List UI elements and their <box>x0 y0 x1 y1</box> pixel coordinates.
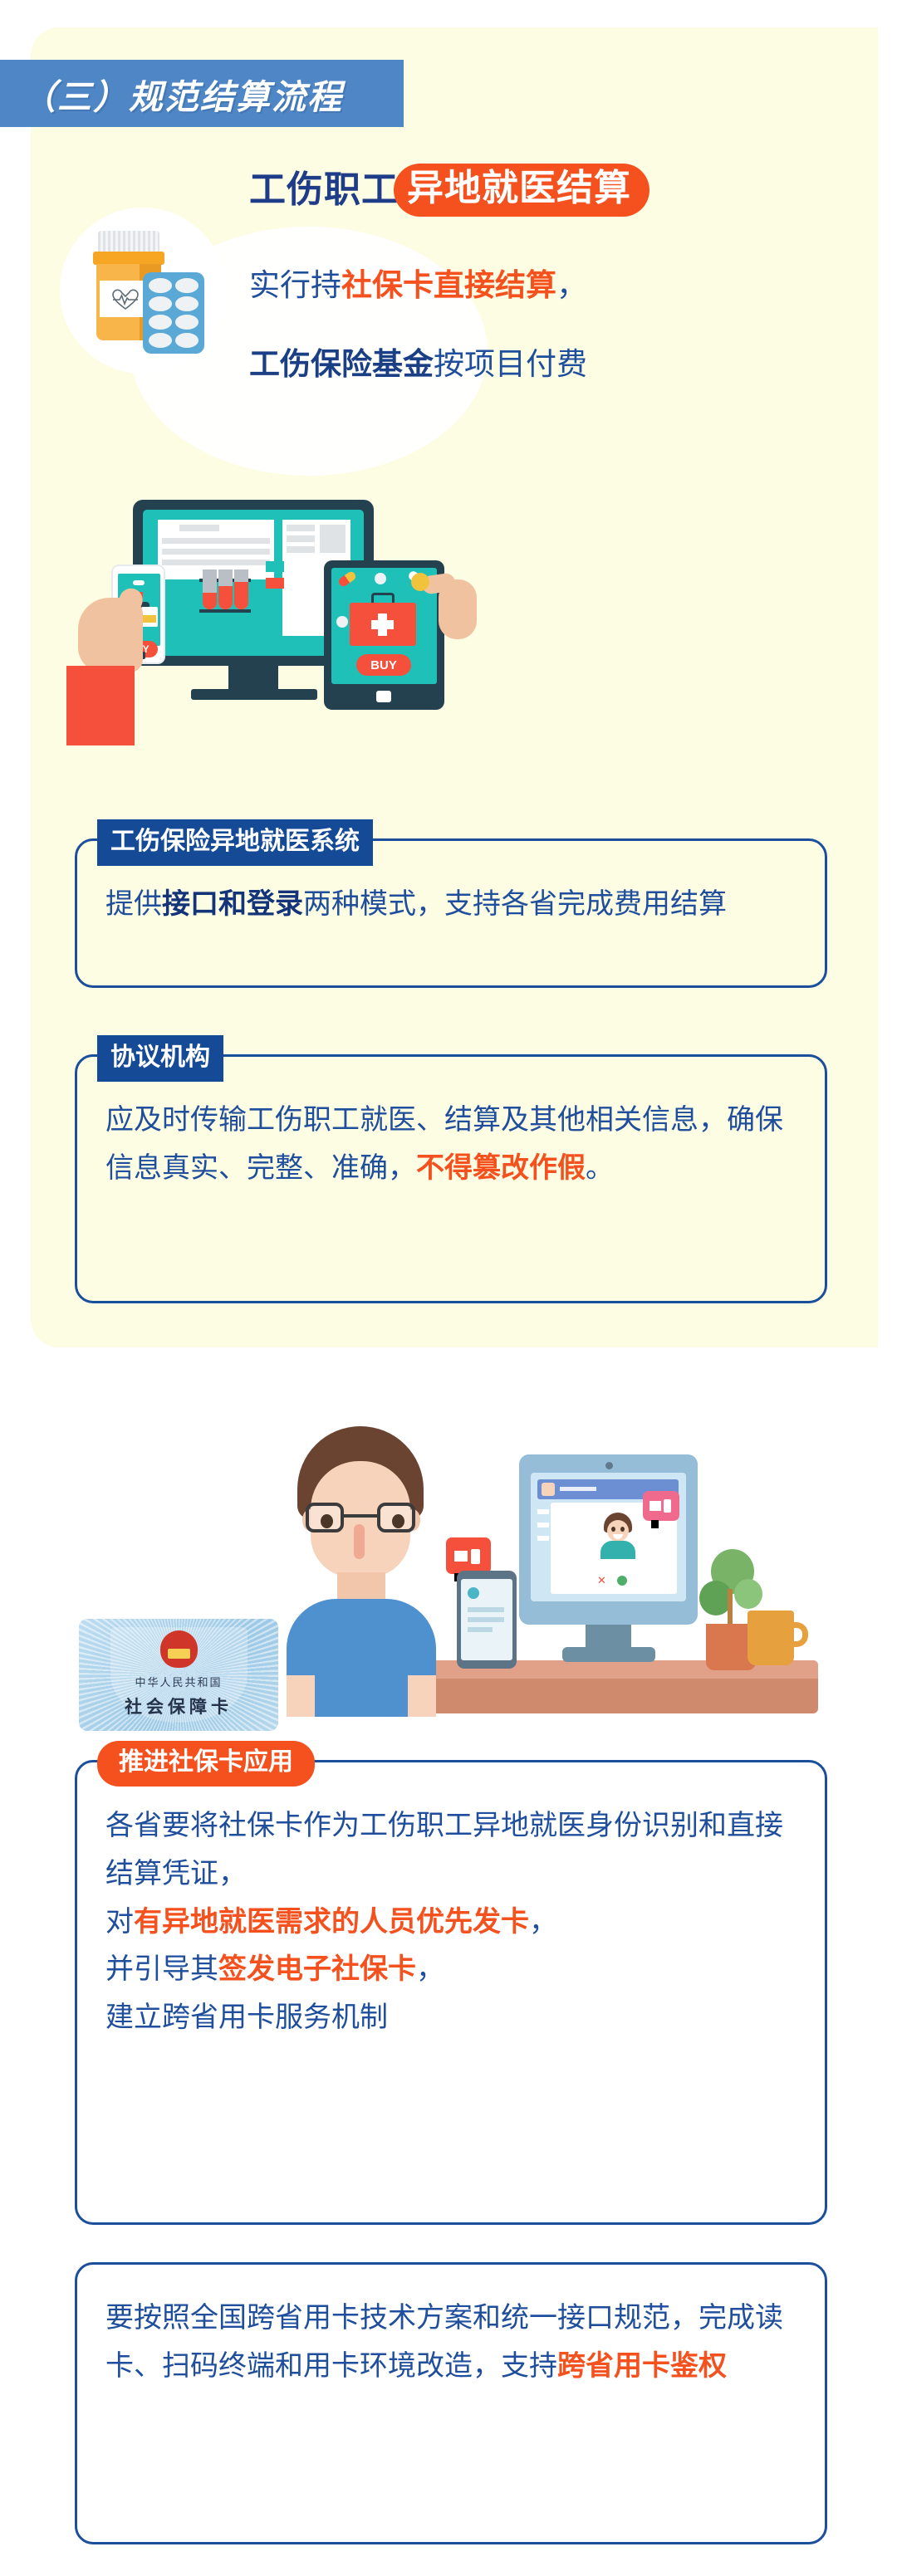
card1-seg-bold: 接口和登录 <box>162 888 303 920</box>
webcam-icon <box>605 1462 613 1469</box>
arm-right <box>408 1675 436 1717</box>
chat-bubble-red <box>446 1537 491 1574</box>
bottle-neck <box>93 252 164 265</box>
glasses-lens-left <box>306 1503 344 1532</box>
section-header-text: （三）规范结算流程 <box>0 69 343 119</box>
glasses-lens-right <box>377 1503 415 1532</box>
card2-seg-period: 。 <box>586 1152 614 1184</box>
screen-table-cell <box>266 578 284 589</box>
man-with-social-security-card-illustration: 中华人民共和国 社会保障卡 <box>79 1411 818 1735</box>
headline-subline-1: 实行持社保卡直接结算， <box>249 270 587 301</box>
eye-pupil <box>321 1514 333 1528</box>
chat-bubble-pink <box>643 1491 679 1521</box>
tablet-pill <box>175 315 199 330</box>
list-line <box>537 1523 549 1528</box>
subline2-bold: 工伤保险基金 <box>249 347 434 381</box>
test-tube <box>203 569 217 609</box>
list-line <box>537 1536 549 1541</box>
nose <box>354 1524 365 1559</box>
screen-text-line <box>162 538 270 544</box>
infographic-page: （三）规范结算流程 工伤职工 异地就医结算 <box>0 0 897 2576</box>
heartbeat-icon <box>111 289 140 310</box>
tablet-pill <box>149 296 172 311</box>
headline-orange-pill: 异地就医结算 <box>394 164 649 217</box>
text-line <box>468 1607 504 1612</box>
smartphone-screen <box>461 1579 512 1660</box>
info-card-promote-card: 推进社保卡应用 各省要将社保卡作为工伤职工异地就医身份识别和直接结算凭证， 对有… <box>75 1760 827 2225</box>
screen-text-line <box>287 525 315 531</box>
card-body-tech-spec: 要按照全国跨省用卡技术方案和统一接口规范，完成读卡、扫码终端和用卡环境改造，支持… <box>77 2265 825 2416</box>
bottle-cap <box>98 231 159 252</box>
section-header-bar: （三）规范结算流程 <box>0 60 404 127</box>
sleeve <box>66 666 135 745</box>
decline-call-icon[interactable]: ✕ <box>597 1574 606 1587</box>
coffee-mug <box>747 1611 794 1665</box>
screen-table-cell <box>266 561 284 572</box>
card3-seg-plain-a: 对 <box>105 1906 134 1938</box>
accept-call-icon[interactable] <box>617 1576 627 1586</box>
tablet-pill <box>149 278 172 293</box>
subline1-plain-b: ， <box>556 268 587 302</box>
tablet-pill <box>175 296 199 311</box>
screen-text-line <box>162 560 270 565</box>
screen-text-line <box>287 535 315 542</box>
card3-line-last: 建立跨省用卡服务机制 <box>105 2002 388 2033</box>
monitor-stand-neck <box>586 1625 631 1650</box>
social-security-card: 中华人民共和国 社会保障卡 <box>79 1619 278 1731</box>
text-line <box>468 1617 504 1622</box>
desktop-computer: ✕ <box>519 1454 698 1625</box>
headline: 工伤职工 异地就医结算 <box>249 163 649 218</box>
blister-pack <box>143 272 204 354</box>
round-pill <box>375 573 386 584</box>
subline1-plain-a: 实行持 <box>249 268 341 302</box>
info-card-agency: 协议机构 应及时传输工伤职工就医、结算及其他相关信息，确保信息真实、完整、准确，… <box>75 1054 827 1303</box>
remote-participant-avatar <box>599 1513 637 1559</box>
round-pill <box>336 616 348 628</box>
buy-button[interactable]: BUY <box>356 654 411 676</box>
info-card-system: 工伤保险异地就医系统 提供接口和登录两种模式，支持各省完成费用结算 <box>75 838 827 988</box>
tablet-home-button[interactable] <box>376 691 391 702</box>
subline1-highlight: 社保卡直接结算 <box>341 268 556 302</box>
card1-seg-plain-a: 提供 <box>105 888 162 920</box>
test-tube <box>234 569 248 609</box>
card-label-promote: 推进社保卡应用 <box>97 1741 315 1787</box>
capsule-pill <box>337 570 357 589</box>
tablet-pill <box>175 278 199 293</box>
plant-leaf <box>734 1579 762 1609</box>
glasses-bridge <box>344 1514 377 1518</box>
medical-cross-icon <box>371 620 394 629</box>
headline-subline-2: 工伤保险基金按项目付费 <box>249 349 587 379</box>
card-country-text: 中华人民共和国 <box>79 1674 278 1689</box>
card1-seg-plain-b: 两种模式，支持各省完成费用结算 <box>303 888 727 920</box>
coin-icon <box>411 573 429 591</box>
card-label-agency: 协议机构 <box>97 1035 223 1082</box>
card3-seg-orange-b: 签发电子社保卡 <box>218 1953 416 1985</box>
monitor-stand-neck <box>228 666 278 691</box>
card-body-promote: 各省要将社保卡作为工伤职工异地就医身份识别和直接结算凭证， 对有异地就医需求的人… <box>77 1762 825 2067</box>
app-avatar <box>468 1587 479 1599</box>
test-tube-rack-base <box>199 609 251 613</box>
subline2-plain: 按项目付费 <box>434 347 587 381</box>
pill-bottle-icon <box>60 208 234 374</box>
monitor-stand-base <box>191 689 317 700</box>
card3-seg-orange-a: 有异地就医需求的人员优先发卡 <box>134 1906 529 1938</box>
card4-seg-orange: 跨省用卡鉴权 <box>557 2350 727 2382</box>
test-tube <box>218 569 233 609</box>
card3-comma-a: ， <box>529 1906 557 1938</box>
monitor-stand-base <box>562 1647 655 1662</box>
tablet-pill <box>175 333 199 348</box>
screen-text-line <box>179 525 219 531</box>
eye-pupil <box>392 1514 404 1528</box>
mug-handle <box>790 1622 808 1647</box>
computer-screen: ✕ <box>531 1473 686 1601</box>
card-label-system: 工伤保险异地就医系统 <box>97 819 373 866</box>
national-emblem-icon <box>160 1630 198 1668</box>
contact-avatar <box>542 1483 555 1496</box>
contact-name-line <box>560 1487 596 1491</box>
card2-seg-orange: 不得篡改作假 <box>416 1152 586 1184</box>
info-card-tech-spec: 要按照全国跨省用卡技术方案和统一接口规范，完成读卡、扫码终端和用卡环境改造，支持… <box>75 2262 827 2544</box>
smartphone-on-desk[interactable] <box>457 1571 517 1669</box>
card3-seg-plain-b: 并引导其 <box>105 1953 218 1985</box>
tablet-pill <box>149 315 172 330</box>
tablet-pill <box>149 333 172 348</box>
screen-text-line <box>287 546 315 553</box>
headline-blue-text: 工伤职工 <box>249 172 399 208</box>
text-line <box>468 1627 493 1632</box>
online-pharmacy-devices-illustration: BUY BUY <box>75 481 473 797</box>
card3-comma-b: ， <box>416 1953 444 1985</box>
screen-thumbnail <box>320 525 346 553</box>
arm-left <box>287 1675 315 1717</box>
person-avatar <box>282 1426 440 1717</box>
list-line <box>537 1509 549 1514</box>
card3-line1: 各省要将社保卡作为工伤职工异地就医身份识别和直接结算凭证， <box>105 1810 783 1889</box>
card-name-text: 社会保障卡 <box>79 1694 278 1718</box>
screen-text-line <box>162 549 270 555</box>
